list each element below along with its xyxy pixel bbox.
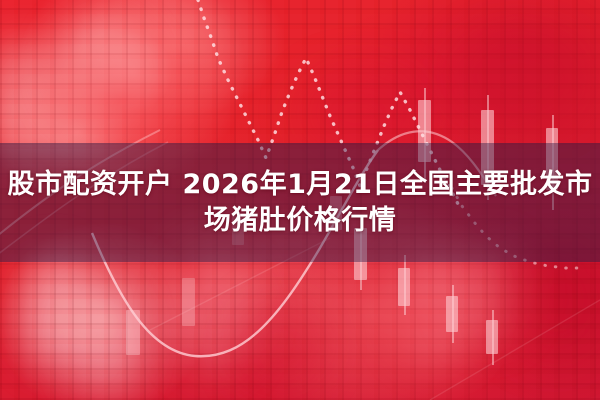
diagonal-accent-line-2 xyxy=(430,300,600,400)
banner-title: 股市配资开户 2026年1月21日全国主要批发市 场猪肚价格行情 xyxy=(0,143,600,262)
title-line-2: 场猪肚价格行情 xyxy=(204,206,397,236)
title-line-1: 股市配资开户 2026年1月21日全国主要批发市 xyxy=(8,170,593,200)
stock-banner: 股市配资开户 2026年1月21日全国主要批发市 场猪肚价格行情 xyxy=(0,0,600,400)
